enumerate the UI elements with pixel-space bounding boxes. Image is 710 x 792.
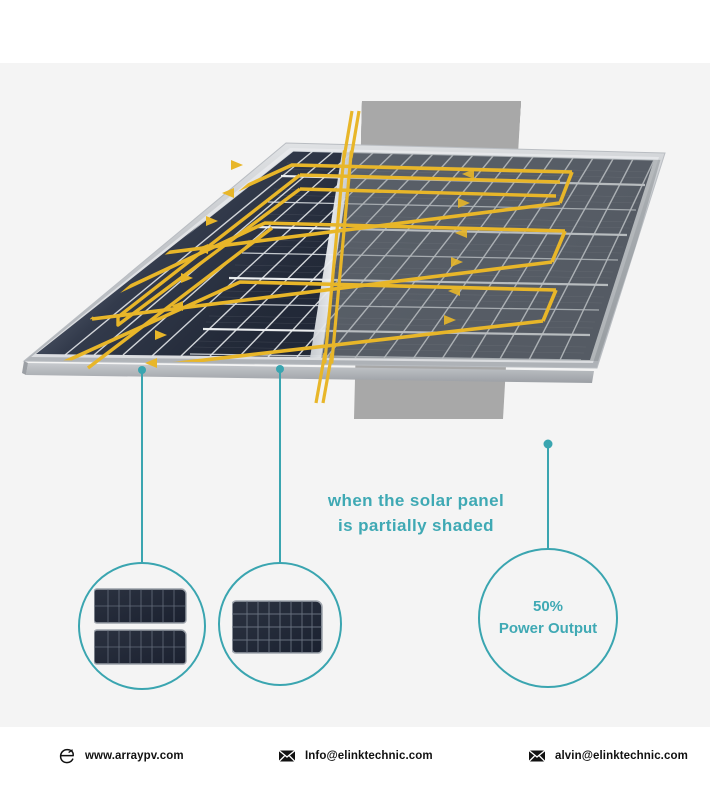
envelope-icon: [528, 747, 546, 765]
headline-line-2: is partially shaded: [296, 514, 536, 539]
headline: when the solar panel is partially shaded: [296, 489, 536, 538]
footer-item-email-info[interactable]: Info@elinktechnic.com: [278, 744, 433, 768]
power-output-percent: 50%: [533, 596, 563, 619]
footer-item-website[interactable]: www.arraypv.com: [58, 744, 184, 768]
envelope-icon: [278, 747, 296, 765]
power-output-badge: 50% Power Output: [478, 548, 618, 688]
solar-module-icon: [232, 597, 330, 664]
shading-plane: [356, 101, 520, 419]
power-output-label: Power Output: [499, 618, 597, 641]
footer-website-text: www.arraypv.com: [85, 750, 184, 762]
footer-email-info-text: Info@elinktechnic.com: [305, 750, 433, 762]
infographic-root: when the solar panel is partially shaded: [0, 0, 710, 792]
split-solar-module-icon: [94, 586, 192, 673]
footer-email-alvin-text: alvin@elinktechnic.com: [555, 750, 688, 762]
headline-line-1: when the solar panel: [296, 489, 536, 514]
internet-explorer-e-icon: [58, 747, 76, 765]
footer-item-email-alvin[interactable]: alvin@elinktechnic.com: [528, 744, 688, 768]
